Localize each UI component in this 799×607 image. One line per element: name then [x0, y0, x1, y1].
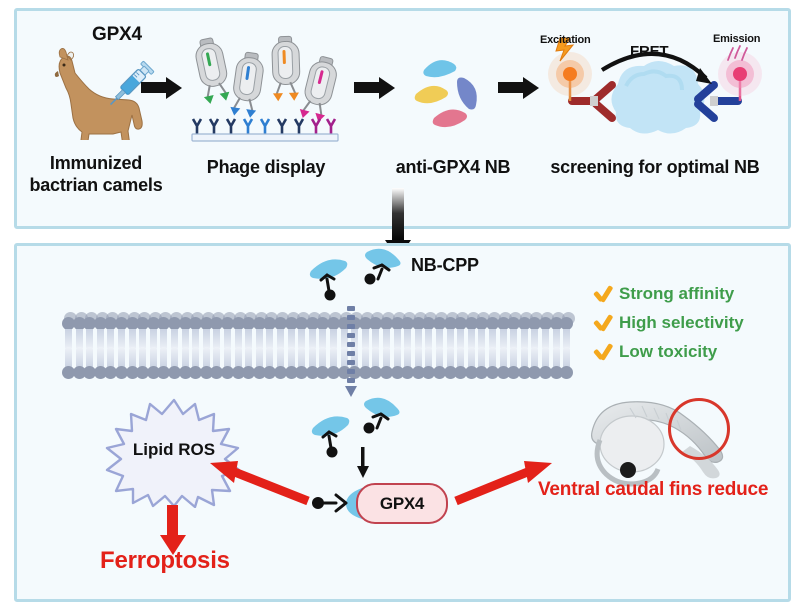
- nanobody-intracellular-left-icon: [310, 412, 356, 462]
- step-label-screening: screening for optimal NB: [530, 157, 780, 178]
- gpx4-badge-label: GPX4: [380, 494, 424, 514]
- phage-plate-antibodies: [190, 112, 340, 142]
- check-icon: [592, 341, 614, 363]
- nanobody-cpp-left-icon: [308, 255, 352, 307]
- benefit-row-strong-affinity: Strong affinity: [592, 283, 787, 305]
- nanobody-intracellular-right-icon: [357, 394, 403, 446]
- excitation-label: Excitation: [540, 34, 591, 46]
- cpp-translocation-arrow: [345, 306, 357, 398]
- benefits-list: Strong affinity High selectivity Low tox…: [592, 283, 787, 370]
- benefit-label-strong-affinity: Strong affinity: [619, 284, 734, 304]
- check-icon: [592, 283, 614, 305]
- benefit-label-low-toxicity: Low toxicity: [619, 342, 717, 362]
- emission-label: Emission: [713, 33, 760, 45]
- ferroptosis-label: Ferroptosis: [100, 547, 230, 575]
- step-label-camels-line2: bactrian camels: [16, 174, 176, 196]
- nb-cpp-label: NB-CPP: [411, 255, 479, 276]
- arrow-phage-to-nb: [354, 82, 380, 93]
- gpx4-protein-badge: GPX4: [356, 483, 448, 524]
- arrow-nb-binds-gpx4: [356, 447, 370, 479]
- arrow-camel-to-phage: [141, 82, 167, 93]
- highlight-circle-caudal-fin: [668, 398, 730, 460]
- gpx4-antigen-label: GPX4: [92, 24, 142, 46]
- step-label-camels: Immunized bactrian camels: [16, 152, 176, 196]
- nanobody-cpp-right-icon: [358, 245, 404, 297]
- nanobody-blobs-icon: [412, 42, 492, 142]
- arrow-gpx4-to-lipid-ros: [200, 455, 312, 507]
- step-label-anti-gpx4-nb: anti-GPX4 NB: [378, 157, 528, 178]
- benefit-label-high-selectivity: High selectivity: [619, 313, 744, 333]
- check-icon: [592, 312, 614, 334]
- fret-label: FRET: [630, 43, 668, 60]
- zebrafish-caption: Ventral caudal fins reduce: [538, 479, 768, 501]
- step-label-phage-display: Phage display: [186, 157, 346, 178]
- phage-display-icon: [190, 32, 340, 142]
- lipid-bilayer-membrane: [62, 312, 578, 380]
- step-label-camels-line1: Immunized: [16, 152, 176, 174]
- benefit-row-low-toxicity: Low toxicity: [592, 341, 787, 363]
- arrow-nb-to-screening: [498, 82, 524, 93]
- benefit-row-high-selectivity: High selectivity: [592, 312, 787, 334]
